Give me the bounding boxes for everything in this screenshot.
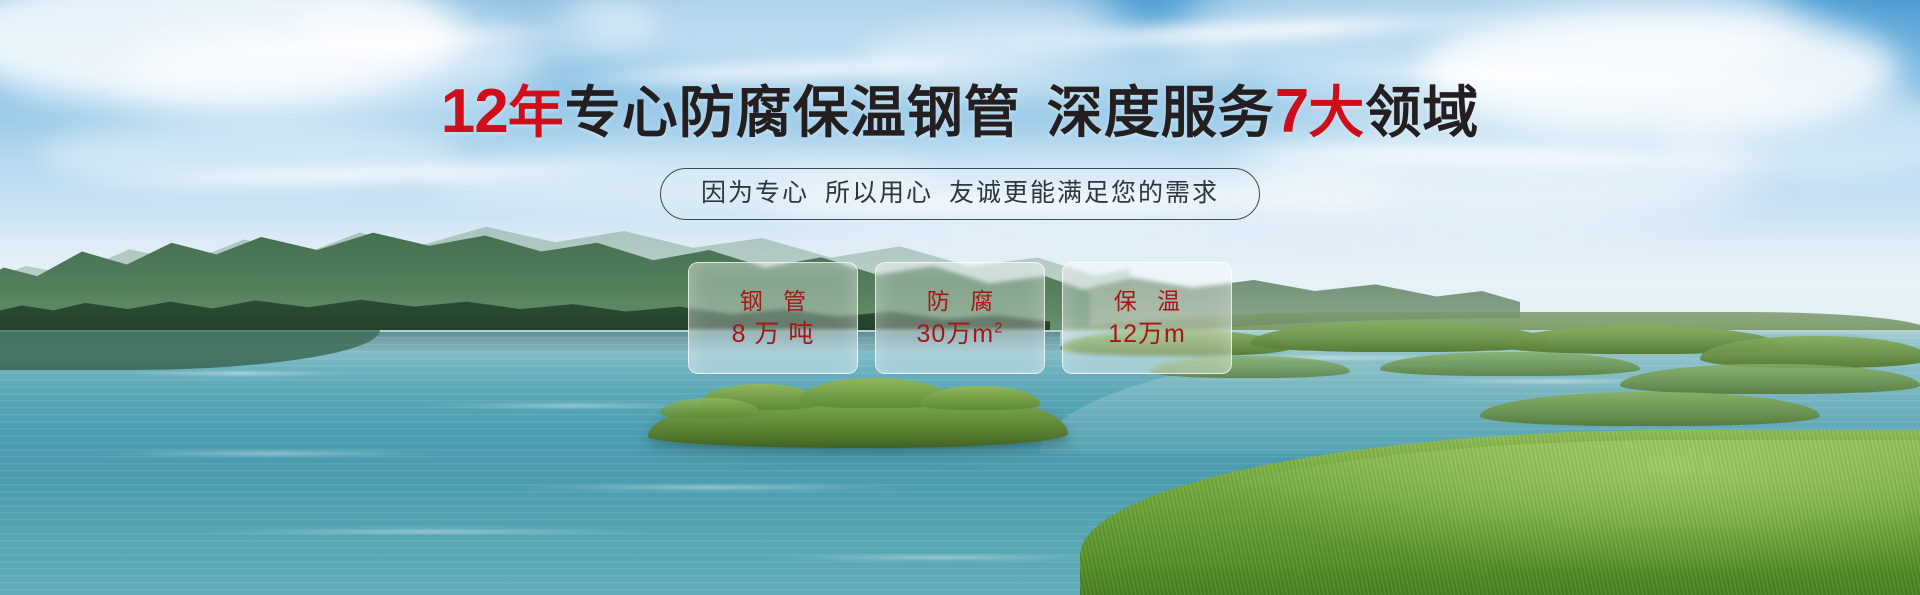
stat-card-value-text: 30万m (917, 320, 995, 348)
stat-card-list: 钢 管 8 万 吨 防 腐 30万m2 保 温 12万m (0, 262, 1920, 374)
subtitle-segment-3: 友诚更能满足您的需求 (949, 179, 1219, 207)
stat-card-value: 8 万 吨 (732, 319, 815, 349)
stat-card-value-text: 12万m (1108, 320, 1186, 348)
headline: 12年专心防腐保温钢管深度服务7大领域 (0, 82, 1920, 143)
hero-banner: 12年专心防腐保温钢管深度服务7大领域 因为专心所以用心友诚更能满足您的需求 钢… (0, 0, 1920, 595)
stat-card-value-superscript: 2 (994, 320, 1003, 337)
subtitle-container: 因为专心所以用心友诚更能满足您的需求 (0, 168, 1920, 220)
subtitle-pill: 因为专心所以用心友诚更能满足您的需求 (660, 168, 1260, 220)
stat-card-value-text: 8 万 吨 (732, 320, 815, 348)
subtitle-segment-2: 所以用心 (825, 179, 933, 207)
headline-years-unit: 年 (508, 81, 565, 144)
stat-card-insulation: 保 温 12万m (1062, 262, 1232, 374)
headline-fields-number: 7 (1275, 77, 1308, 146)
stat-card-title: 防 腐 (920, 287, 1000, 315)
stat-card-title: 钢 管 (733, 287, 813, 315)
stat-card-value: 12万m (1108, 319, 1186, 349)
headline-years-number: 12 (441, 77, 508, 146)
stat-card-steel-pipe: 钢 管 8 万 吨 (688, 262, 858, 374)
headline-fields-tail: 领域 (1365, 81, 1479, 144)
subtitle-segment-1: 因为专心 (701, 179, 809, 207)
banner-content: 12年专心防腐保温钢管深度服务7大领域 因为专心所以用心友诚更能满足您的需求 钢… (0, 0, 1920, 595)
stat-card-anticorrosion: 防 腐 30万m2 (875, 262, 1045, 374)
headline-fields-big: 大 (1308, 81, 1365, 144)
headline-main-text: 专心防腐保温钢管 (565, 81, 1021, 144)
headline-service-text: 深度服务 (1047, 81, 1275, 144)
stat-card-value: 30万m2 (917, 319, 1004, 349)
stat-card-title: 保 温 (1107, 287, 1187, 315)
